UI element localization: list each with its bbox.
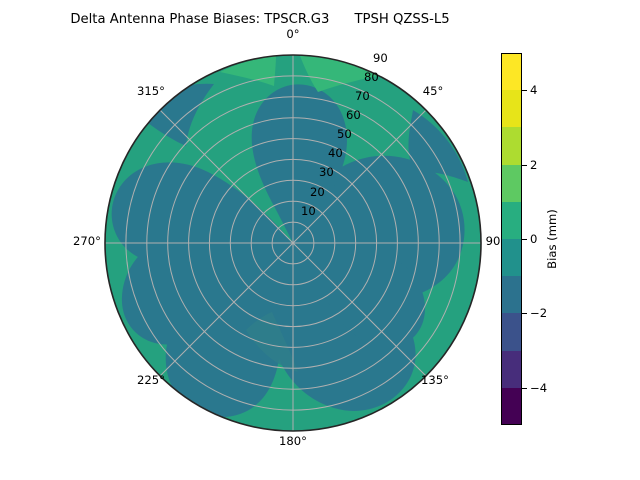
- colorbar-band-8: [501, 351, 522, 388]
- r-tick-30: 30: [319, 167, 334, 179]
- r-tick-50: 50: [337, 129, 352, 141]
- r-tick-20: 20: [310, 187, 325, 199]
- r-tick-10: 10: [301, 206, 316, 218]
- colorbar-tick-mark-1: [522, 165, 527, 166]
- colorbar-tick-mark-0: [522, 90, 527, 91]
- theta-tick-315: 315°: [126, 86, 176, 98]
- colorbar-band-9: [501, 388, 522, 425]
- colorbar-band-7: [501, 313, 522, 350]
- colorbar-band-4: [501, 202, 522, 239]
- colorbar-band-0: [501, 53, 522, 90]
- r-tick-70: 70: [355, 91, 370, 103]
- colorbar-bands: [501, 53, 522, 425]
- r-tick-80: 80: [364, 72, 379, 84]
- colorbar-label: Bias (mm): [545, 209, 559, 269]
- colorbar-tick-mark-4: [522, 388, 527, 389]
- colorbar-band-1: [501, 90, 522, 127]
- r-tick-90: 90: [373, 53, 388, 65]
- colorbar-band-5: [501, 239, 522, 276]
- colorbar-band-3: [501, 165, 522, 202]
- theta-tick-180: 180°: [268, 436, 318, 448]
- theta-tick-135: 135°: [410, 375, 460, 387]
- colorbar-tick-label-1: 2: [530, 158, 537, 172]
- theta-tick-270: 270°: [62, 236, 112, 248]
- colorbar-band-6: [501, 276, 522, 313]
- colorbar[interactable]: [501, 53, 522, 425]
- figure-canvas: Delta Antenna Phase Biases: TPSCR.G3 TPS…: [0, 0, 640, 480]
- polar-axes[interactable]: 0° 45° 90 135° 180° 225° 270° 315° 10 20…: [0, 0, 640, 480]
- theta-tick-45: 45°: [413, 86, 453, 98]
- r-tick-60: 60: [346, 110, 361, 122]
- colorbar-tick-mark-3: [522, 313, 527, 314]
- colorbar-tick-label-2: 0: [530, 232, 537, 246]
- colorbar-band-2: [501, 127, 522, 164]
- theta-tick-0: 0°: [273, 29, 313, 41]
- colorbar-tick-label-3: −2: [530, 306, 547, 320]
- theta-tick-225: 225°: [126, 375, 176, 387]
- colorbar-tick-label-0: 4: [530, 83, 537, 97]
- colorbar-tick-mark-2: [522, 239, 527, 240]
- colorbar-tick-label-4: −4: [530, 381, 547, 395]
- r-tick-40: 40: [328, 148, 343, 160]
